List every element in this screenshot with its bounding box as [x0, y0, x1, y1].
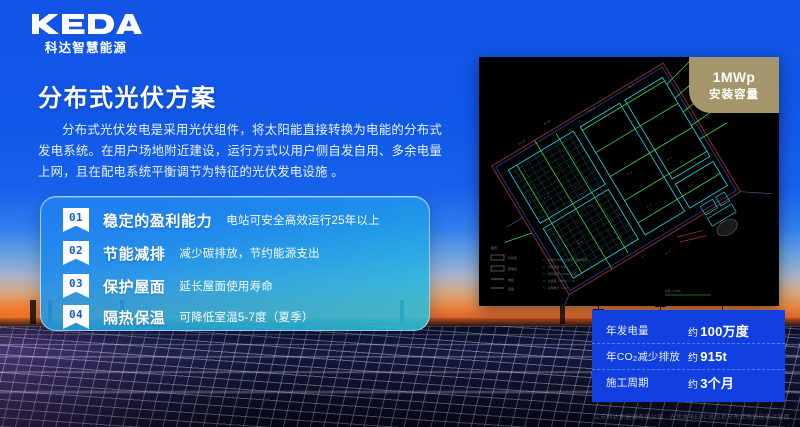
- metric-approx: 约: [688, 328, 698, 339]
- metric-value: 约3个月: [688, 373, 734, 392]
- capacity-badge: 1MWp 安装容量: [689, 57, 779, 113]
- feature-title: 节能减排: [103, 243, 165, 264]
- metric-row: 施工周期 约3个月: [592, 369, 785, 395]
- metric-label: 施工周期: [606, 375, 688, 390]
- ribbon-number-icon: 03: [63, 274, 89, 298]
- metric-approx: 约: [688, 380, 698, 391]
- feature-title: 保护屋面: [103, 276, 165, 297]
- brand-logo: 科达智慧能源: [30, 13, 150, 56]
- metric-number: 3个月: [700, 376, 734, 391]
- feature-title: 隔热保温: [103, 307, 165, 328]
- feature-item-04: 04 隔热保温 可降低室温5-7度（夏季）: [63, 305, 314, 329]
- svg-text:道路: 道路: [508, 286, 514, 291]
- metric-label: 年CO2减少排放: [606, 349, 688, 364]
- slide-root: 科达智慧能源 分布式光伏方案 分布式光伏发电是采用光伏组件，将太阳能直接转换为电…: [0, 0, 800, 427]
- svg-text:比例 1:500: 比例 1:500: [665, 289, 681, 293]
- metric-label-subscript: 2: [633, 354, 637, 363]
- feature-item-03: 03 保护屋面 延长屋面使用寿命: [63, 274, 273, 298]
- svg-text:1. 本图为分布式光伏总平面布置图: 1. 本图为分布式光伏总平面布置图: [543, 258, 587, 262]
- ribbon-number-icon: 01: [63, 208, 89, 232]
- metric-value: 约100万度: [688, 321, 749, 340]
- site-layout-drawing: JS-01JS-02 BX-ABX-B A-1A-2 C-1D-1 C-2D-2…: [479, 57, 779, 306]
- metric-label-post: 减少排放: [637, 351, 680, 363]
- keda-wordmark-icon: [30, 13, 142, 35]
- feature-item-02: 02 节能减排 减少碳排放，节约能源支出: [63, 241, 320, 265]
- ribbon-number-icon: 02: [63, 241, 89, 265]
- svg-text:3. 组件型号 545Wp 单晶: 3. 组件型号 545Wp 单晶: [543, 272, 577, 276]
- capacity-value: 1MWp: [713, 69, 755, 85]
- metric-approx: 约: [688, 353, 698, 364]
- page-title: 分布式光伏方案: [38, 78, 217, 113]
- svg-text:图例: 图例: [491, 245, 497, 250]
- feature-number: 01: [69, 211, 83, 224]
- feature-description: 电站可安全高效运行25年以上: [226, 212, 380, 228]
- feature-description: 减少碳排放，节约能源支出: [179, 245, 319, 261]
- key-metrics-panel: 年发电量 约100万度 年CO2减少排放 约915t 施工周期 约3个月: [592, 310, 785, 402]
- svg-text:5. 并网电压 10kV: 5. 并网电压 10kV: [543, 286, 568, 290]
- metric-value: 约915t: [688, 349, 727, 364]
- feature-number: 02: [69, 244, 83, 257]
- feature-description: 可降低室温5-7度（夏季）: [179, 309, 313, 325]
- footer-watermark: 江苏科达新能源有限公司 光伏发电EPC总包及分布式电站投资运营商: [594, 412, 790, 421]
- svg-text:配电房: 配电房: [508, 266, 517, 271]
- intro-paragraph: 分布式光伏发电是采用光伏组件，将太阳能直接转换为电能的分布式发电系统。在用户场地…: [38, 120, 442, 183]
- svg-text:4. 逆变器 100kW × 10: 4. 逆变器 100kW × 10: [543, 279, 575, 283]
- metric-label: 年发电量: [606, 323, 688, 338]
- feature-title: 稳定的盈利能力: [103, 210, 212, 231]
- feature-number: 04: [69, 308, 83, 321]
- metric-label-pre: 年CO: [606, 351, 633, 363]
- svg-text:电缆: 电缆: [508, 277, 514, 282]
- metric-number: 100万度: [700, 324, 749, 339]
- metric-row: 年CO2减少排放 约915t: [592, 343, 785, 369]
- svg-text:光伏区: 光伏区: [508, 255, 517, 260]
- svg-text:2. 安装容量 1MWp: 2. 安装容量 1MWp: [543, 265, 568, 269]
- brand-sub-label: 科达智慧能源: [30, 37, 142, 56]
- metric-number: 915t: [700, 349, 727, 364]
- feature-description: 延长屋面使用寿命: [179, 278, 273, 294]
- benefits-card: 01 稳定的盈利能力 电站可安全高效运行25年以上 02 节能减排 减少碳排放，…: [40, 196, 430, 331]
- ribbon-number-icon: 04: [63, 305, 89, 329]
- feature-item-01: 01 稳定的盈利能力 电站可安全高效运行25年以上: [63, 208, 380, 232]
- capacity-label: 安装容量: [709, 86, 759, 102]
- feature-number: 03: [69, 277, 83, 290]
- metric-row: 年发电量 约100万度: [592, 317, 785, 343]
